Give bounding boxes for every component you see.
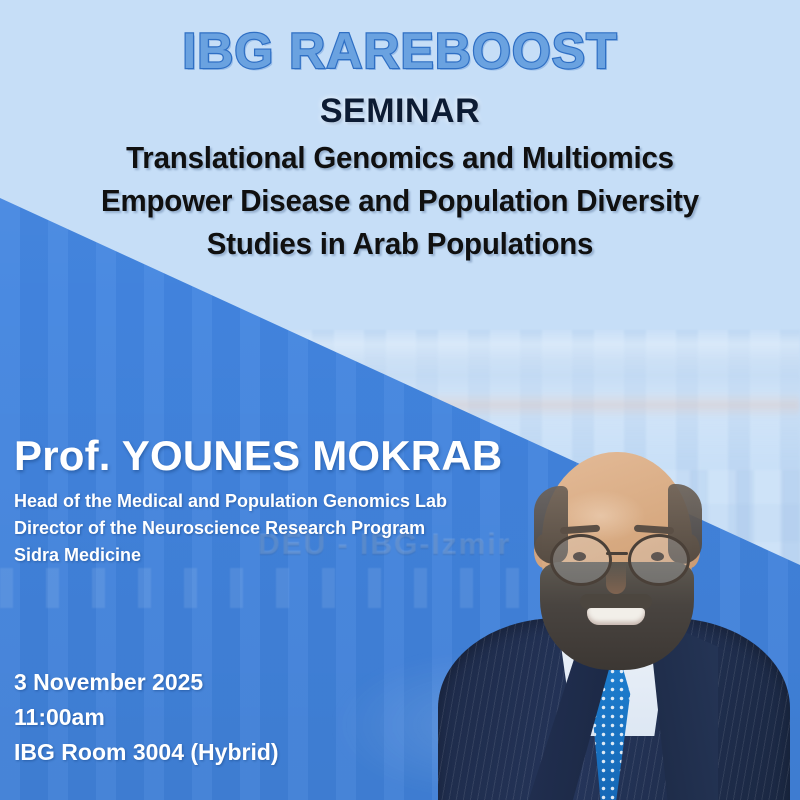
- event-venue: IBG Room 3004 (Hybrid): [14, 735, 279, 770]
- event-type-label: SEMINAR: [0, 92, 800, 131]
- seminar-poster: DEU - IBG-Izmir IBG RAREBOOST SEMINAR Tr…: [0, 0, 800, 800]
- portrait-mustache: [580, 594, 652, 609]
- talk-title-line-3: Studies in Arab Populations: [20, 222, 780, 265]
- brand-title: IBG RAREBOOST: [0, 22, 800, 80]
- event-time: 11:00am: [14, 700, 279, 735]
- affiliation-line-2: Director of the Neuroscience Research Pr…: [14, 515, 447, 542]
- portrait-lens-left: [550, 534, 612, 586]
- talk-title-line-2: Empower Disease and Population Diversity: [20, 179, 780, 222]
- talk-title: Translational Genomics and Multiomics Em…: [0, 136, 800, 265]
- talk-title-line-1: Translational Genomics and Multiomics: [20, 136, 780, 179]
- portrait-lens-right: [628, 534, 690, 586]
- eyeglasses-icon: [542, 534, 692, 580]
- affiliation-line-1: Head of the Medical and Population Genom…: [14, 488, 447, 515]
- event-logistics: 3 November 2025 11:00am IBG Room 3004 (H…: [14, 665, 279, 770]
- portrait-glasses-bridge: [606, 552, 628, 555]
- speaker-portrait: [430, 430, 800, 800]
- event-date: 3 November 2025: [14, 665, 279, 700]
- speaker-name: Prof. YOUNES MOKRAB: [14, 432, 502, 480]
- affiliation-line-3: Sidra Medicine: [14, 542, 447, 569]
- portrait-mouth: [587, 608, 645, 625]
- speaker-affiliations: Head of the Medical and Population Genom…: [14, 488, 447, 569]
